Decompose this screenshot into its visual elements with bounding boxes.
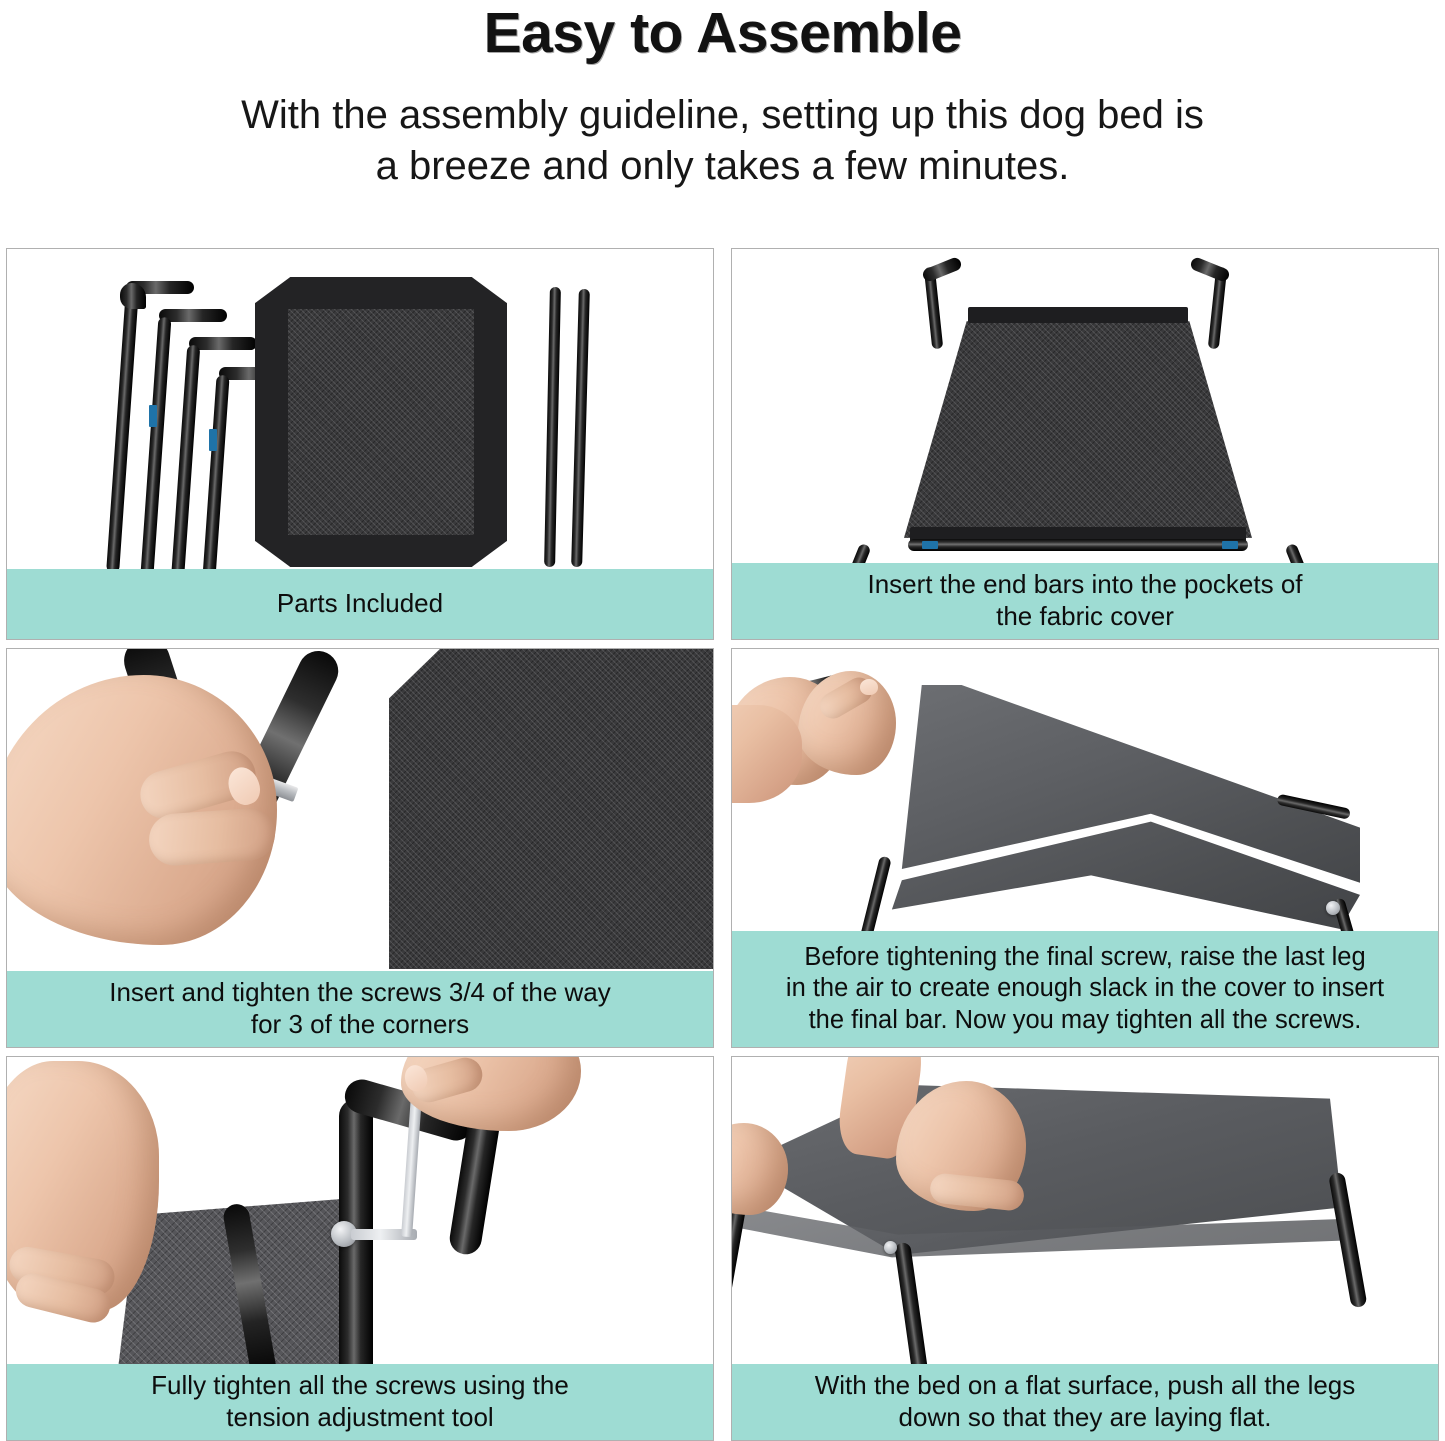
step-1-caption-text: Parts Included — [277, 588, 443, 620]
cover-mesh-area — [288, 309, 475, 535]
step-1-caption: Parts Included — [7, 569, 713, 639]
header: Easy to Assemble With the assembly guide… — [0, 0, 1445, 192]
infographic-page: Easy to Assemble With the assembly guide… — [0, 0, 1445, 1433]
forearm — [732, 705, 802, 803]
straight-end-bar-1 — [544, 287, 561, 567]
leg-label-4 — [209, 429, 217, 451]
step-panel-3: Insert and tighten the screws 3/4 of the… — [6, 648, 714, 1048]
step-panel-4: Before tightening the final screw, raise… — [731, 648, 1439, 1048]
step-4-caption: Before tightening the final screw, raise… — [732, 931, 1438, 1047]
left-grip-hand — [732, 1123, 788, 1215]
step-4-caption-text: Before tightening the final screw, raise… — [786, 942, 1384, 1035]
stretched-fabric-cover — [904, 307, 1252, 545]
leg-label-2 — [149, 405, 157, 427]
step-panel-6: With the bed on a flat surface, push all… — [731, 1056, 1439, 1441]
page-title: Easy to Assemble — [0, 4, 1445, 64]
step-5-caption-text: Fully tighten all the screws using the t… — [151, 1370, 569, 1433]
step-2-caption: Insert the end bars into the pockets of … — [732, 563, 1438, 639]
holding-fingernail — [860, 679, 878, 695]
subtitle-line-2: a breeze and only takes a few minutes. — [0, 141, 1445, 192]
corner-mesh-fabric — [389, 649, 713, 969]
subtitle-line-1: With the assembly guideline, setting up … — [0, 90, 1445, 141]
corner-label-right — [1222, 541, 1238, 549]
step-5-caption: Fully tighten all the screws using the t… — [7, 1364, 713, 1440]
step-3-caption-text: Insert and tighten the screws 3/4 of the… — [109, 977, 611, 1040]
steps-grid: Parts Included — [6, 248, 1439, 1441]
straight-end-bar-2 — [571, 289, 590, 567]
step-panel-2: Insert the end bars into the pockets of … — [731, 248, 1439, 640]
corner-label-left — [922, 541, 938, 549]
rear-hook-left — [921, 256, 963, 283]
corner-bolt — [1326, 901, 1340, 915]
thumb — [147, 807, 276, 868]
mesh-fabric-cover — [255, 277, 507, 567]
step-6-caption: With the bed on a flat surface, push all… — [732, 1364, 1438, 1440]
page-subtitle: With the assembly guideline, setting up … — [0, 90, 1445, 192]
fabric-top-pocket — [968, 307, 1188, 323]
finished-bed-bolt — [884, 1241, 897, 1254]
step-panel-1: Parts Included — [6, 248, 714, 640]
front-cross-bar — [908, 539, 1248, 551]
step-6-caption-text: With the bed on a flat surface, push all… — [815, 1370, 1356, 1433]
step-2-caption-text: Insert the end bars into the pockets of … — [867, 569, 1302, 632]
step-panel-5: Fully tighten all the screws using the t… — [6, 1056, 714, 1441]
step-3-caption: Insert and tighten the screws 3/4 of the… — [7, 971, 713, 1047]
rear-hook-right — [1189, 256, 1231, 283]
